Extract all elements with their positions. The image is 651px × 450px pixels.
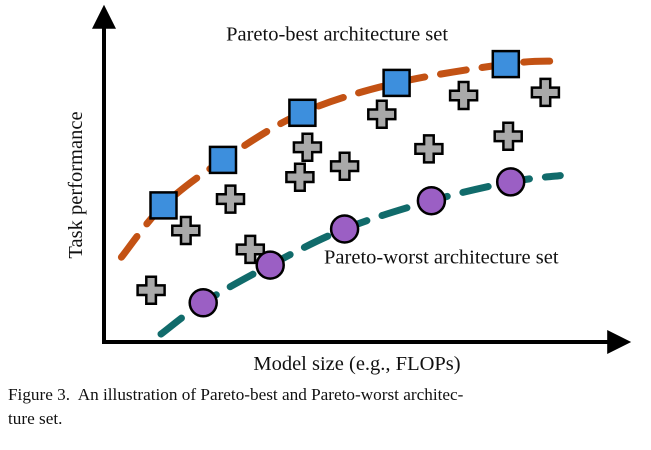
caption-line-2: ture set. bbox=[8, 407, 644, 431]
pareto-worst-marker bbox=[497, 168, 524, 195]
figure-caption: Figure 3. An illustration of Pareto-best… bbox=[8, 383, 644, 431]
other-architecture-marker bbox=[217, 186, 244, 213]
pareto-worst-marker bbox=[418, 187, 445, 214]
pareto-best-marker bbox=[151, 192, 177, 218]
pareto-worst-annotation: Pareto-worst architecture set bbox=[324, 247, 559, 269]
other-architecture-marker bbox=[294, 134, 321, 161]
pareto-best-marker bbox=[493, 51, 519, 77]
other-architecture-marker bbox=[331, 153, 358, 180]
other-architecture-marker bbox=[368, 101, 395, 128]
axes-group bbox=[102, 24, 612, 342]
figure-container: Model size (e.g., FLOPs) Task performanc… bbox=[0, 0, 651, 450]
pareto-worst-marker bbox=[331, 216, 358, 243]
x-axis-label: Model size (e.g., FLOPs) bbox=[253, 353, 460, 375]
pareto-worst-marker bbox=[190, 289, 217, 316]
other-architecture-marker bbox=[172, 217, 199, 244]
pareto-best-marker bbox=[289, 100, 315, 126]
other-architecture-marker bbox=[286, 164, 313, 191]
pareto-best-marker bbox=[210, 147, 236, 173]
other-architecture-marker bbox=[495, 123, 522, 150]
other-architecture-marker bbox=[138, 277, 165, 304]
other-architecture-marker bbox=[415, 135, 442, 162]
pareto-best-marker bbox=[384, 70, 410, 96]
chart-canvas: Model size (e.g., FLOPs) Task performanc… bbox=[0, 0, 651, 375]
pareto-worst-marker bbox=[257, 252, 284, 279]
y-axis-label: Task performance bbox=[65, 111, 87, 258]
pareto-best-annotation: Pareto-best architecture set bbox=[226, 24, 448, 46]
cross-markers-group bbox=[138, 79, 559, 304]
other-architecture-marker bbox=[532, 79, 559, 106]
other-architecture-marker bbox=[450, 82, 477, 109]
caption-line-1: Figure 3. An illustration of Pareto-best… bbox=[8, 383, 644, 407]
